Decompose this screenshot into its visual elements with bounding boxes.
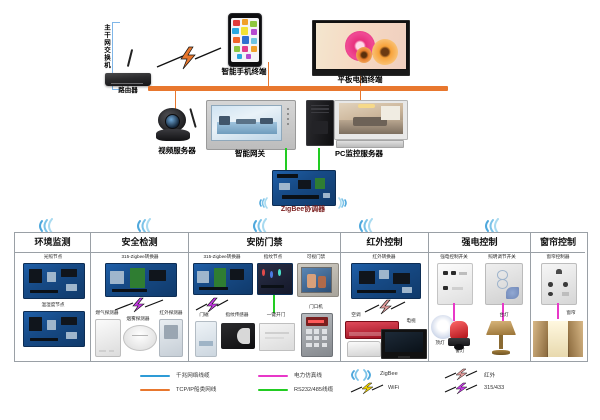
video-door-device — [297, 263, 339, 297]
panel-title-high-voltage-control: 强电控制 — [429, 233, 530, 253]
router-antenna — [127, 49, 133, 67]
phone-screen — [231, 18, 259, 63]
desk-lamp-label: 台灯 — [491, 313, 517, 318]
legend-label-rf-315-433-signal: 315/433 — [484, 385, 504, 391]
smoke-detector-device — [123, 325, 157, 351]
panel-title-security-access-control: 安防门禁 — [189, 233, 340, 253]
env-board-temp-humidity — [23, 311, 85, 347]
tablet-screen — [316, 23, 406, 68]
legend-label-wifi-signal: WiFi — [388, 385, 399, 391]
door-sensor-device — [195, 321, 217, 357]
legend-swatch-wifi-signal — [350, 382, 384, 400]
pir-detector-label: 红外探测器 — [153, 311, 189, 316]
safety-converter-board — [105, 263, 177, 297]
legend: 千兆网络线缆 电力仿真线 ZigBee 红外 TCP/IP船类网线 RS232/… — [14, 366, 586, 400]
curtain-label: 窗帘 — [559, 311, 583, 316]
panel-curtain-control: 窗帘控制 窗帘控制器 窗帘 — [531, 233, 585, 361]
backbone-bus — [148, 86, 448, 91]
panel-security-access-control: 安防门禁 315-Zigbee转换器 指纹节点 可视门禁 — [189, 233, 341, 361]
hv-switch-2-label: 照明调节开关 — [475, 255, 529, 260]
video-door-label: 可视门禁 — [293, 255, 339, 260]
monitor-screen — [339, 103, 404, 133]
hv-switch-1-label: 强电控制开关 — [429, 255, 479, 260]
ir-converter-label: 红外转换器 — [349, 255, 419, 260]
pc-monitor — [334, 100, 408, 140]
curtain-device — [533, 321, 583, 357]
infrared-bolt-icon — [363, 299, 407, 320]
legend-swatch-backbone-network-cable — [140, 375, 170, 377]
panel-environment-monitoring: 环境监测 光照节点 温湿度节点 — [15, 233, 91, 361]
desk-lamp-device — [483, 321, 519, 355]
fingerprint-node-label: 指纹节点 — [251, 255, 295, 260]
panel-title-environment-monitoring: 环境监测 — [15, 233, 90, 253]
fingerprint-sensor-device — [221, 323, 255, 349]
panel-title-safety-detection: 安全检测 — [91, 233, 188, 253]
rs232-link-fingerprint — [273, 295, 275, 313]
legend-swatch-rs232-485-cable — [258, 389, 288, 391]
video-server-label: 视频服务器 — [144, 147, 210, 155]
panel-title-curtain-control: 窗帘控制 — [531, 233, 585, 253]
video-server-camera — [152, 104, 202, 144]
env-board-light — [23, 263, 85, 299]
smart-gateway-device — [206, 100, 296, 150]
router-body — [105, 73, 151, 86]
legend-swatch-rf-315-433-signal — [444, 382, 478, 400]
hv-switch-2-device — [485, 263, 523, 305]
rs232-link-gateway — [285, 148, 287, 170]
door-phone-label: 门口机 — [295, 305, 337, 310]
legend-label-infrared-signal: 红外 — [484, 371, 495, 379]
hv-switch-1-device — [437, 263, 473, 305]
legend-label-rs232-485-cable: RS232/485线缆 — [294, 385, 333, 393]
zigbee-signal-icon-right — [334, 196, 348, 214]
panel-title-infrared-control: 红外控制 — [341, 233, 428, 253]
legend-swatch-tcpip-twisted-pair — [140, 389, 170, 391]
panel-infrared-control: 红外控制 红外转换器 空调 — [341, 233, 429, 361]
gas-detector-label: 燃气探测器 — [89, 311, 125, 316]
rs232-link-pc — [318, 148, 320, 170]
air-conditioner-indoor-unit — [347, 341, 381, 357]
legend-label-tcpip-twisted-pair: TCP/IP船类网线 — [176, 385, 216, 393]
one-key-open-panel — [259, 323, 295, 351]
gateway-buttons[interactable] — [284, 108, 292, 138]
router-device — [105, 63, 151, 85]
subsystem-panels: 环境监测 光照节点 温湿度节点 — [14, 232, 588, 362]
smoke-detector-label: 烟雾探测器 — [119, 317, 157, 322]
tablet-menu — [319, 27, 342, 28]
diagram-canvas: 主干网交换机 路由器 — [0, 0, 600, 420]
tablet-pc-terminal — [312, 20, 410, 76]
smart-phone-terminal-label: 智能手机终端 — [212, 68, 276, 76]
legend-label-backbone-network-cable: 千兆网络线缆 — [176, 371, 210, 379]
zigbee-coordinator-label: ZigBee协调器 — [268, 206, 338, 213]
air-conditioner-label: 空调 — [343, 313, 369, 318]
panel-safety-detection: 安全检测 315-Zigbee转换器 燃气探测器 — [91, 233, 189, 361]
panel-high-voltage-control: 强电控制 强电控制开关 照明调节开关 顶灯 — [429, 233, 531, 361]
router-label: 路由器 — [105, 88, 151, 95]
safety-converter-label: 315-Zigbee转换器 — [95, 255, 185, 260]
ir-converter-board — [351, 263, 421, 299]
fingerprint-sensor-label: 指纹传感器 — [215, 313, 259, 318]
camera-antenna — [189, 108, 196, 128]
zigbee-signal-icon-left — [258, 196, 272, 214]
legend-label-power-line: 电力仿真线 — [294, 371, 322, 379]
pir-detector-device — [159, 319, 183, 357]
television-label: 电视 — [397, 319, 425, 324]
pc-tower — [306, 100, 334, 146]
gateway-screen — [211, 105, 282, 141]
alarm-lamp-device — [447, 321, 471, 351]
legend-swatch-power-line — [258, 375, 288, 377]
env-item-1-label: 温湿度节点 — [19, 303, 87, 308]
tablet-pc-terminal-label: 平板电脑终端 — [328, 76, 392, 84]
curtain-controller-device — [541, 263, 577, 305]
access-converter-label: 315-Zigbee转换器 — [189, 255, 255, 260]
zigbee-coordinator-board — [272, 170, 336, 206]
curtain-controller-label: 窗帘控制器 — [531, 255, 585, 260]
pc-keyboard — [336, 140, 404, 148]
television-device — [381, 329, 427, 359]
smart-gateway-label: 智能网关 — [218, 150, 282, 158]
fingerprint-node-board — [257, 263, 293, 295]
camera-base — [156, 129, 190, 141]
door-phone-device — [301, 313, 333, 357]
door-sensor-label: 门磁 — [191, 313, 217, 318]
power-line-to-alarm — [453, 303, 455, 321]
one-key-open-label: 一键开门 — [255, 313, 297, 318]
smart-phone-terminal — [228, 13, 262, 67]
env-item-0-label: 光照节点 — [19, 255, 87, 260]
pc-monitoring-server-label: PC监控服务器 — [320, 150, 398, 158]
gas-detector-device — [95, 319, 121, 357]
legend-label-zigbee-signal: ZigBee — [380, 371, 398, 377]
access-converter-board — [193, 263, 253, 295]
pc-monitoring-server — [306, 100, 410, 148]
